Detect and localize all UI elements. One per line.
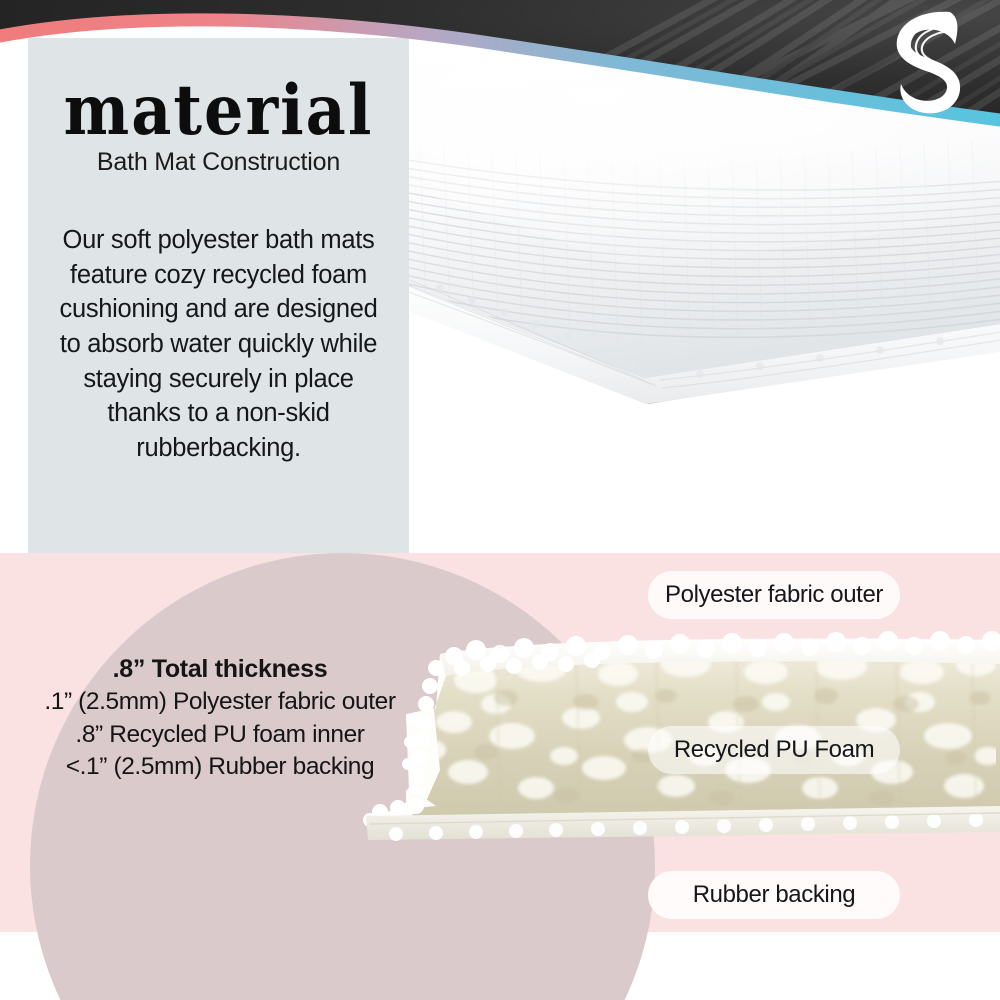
spec-total-thickness: .8” Total thickness bbox=[28, 655, 412, 684]
callout-polyester-fabric-outer: Polyester fabric outer bbox=[648, 571, 900, 619]
spec-line-outer: .1” (2.5mm) Polyester fabric outer bbox=[28, 686, 412, 719]
spec-line-rubber: <.1” (2.5mm) Rubber backing bbox=[28, 751, 412, 784]
callout-recycled-pu-foam: Recycled PU Foam bbox=[648, 726, 900, 774]
callout-rubber-backing: Rubber backing bbox=[648, 871, 900, 919]
callout-label: Polyester fabric outer bbox=[665, 581, 883, 609]
thickness-spec-block: .8” Total thickness .1” (2.5mm) Polyeste… bbox=[28, 655, 412, 784]
top-banner bbox=[0, 0, 1000, 130]
panel-body-text: Our soft polyester bath mats feature coz… bbox=[48, 223, 389, 466]
page-subtitle: Bath Mat Construction bbox=[36, 148, 401, 177]
infographic-canvas: material Bath Mat Construction Our soft … bbox=[0, 0, 1000, 1000]
callout-label: Recycled PU Foam bbox=[674, 736, 874, 764]
spec-line-foam: .8” Recycled PU foam inner bbox=[28, 719, 412, 752]
callout-label: Rubber backing bbox=[693, 881, 856, 909]
